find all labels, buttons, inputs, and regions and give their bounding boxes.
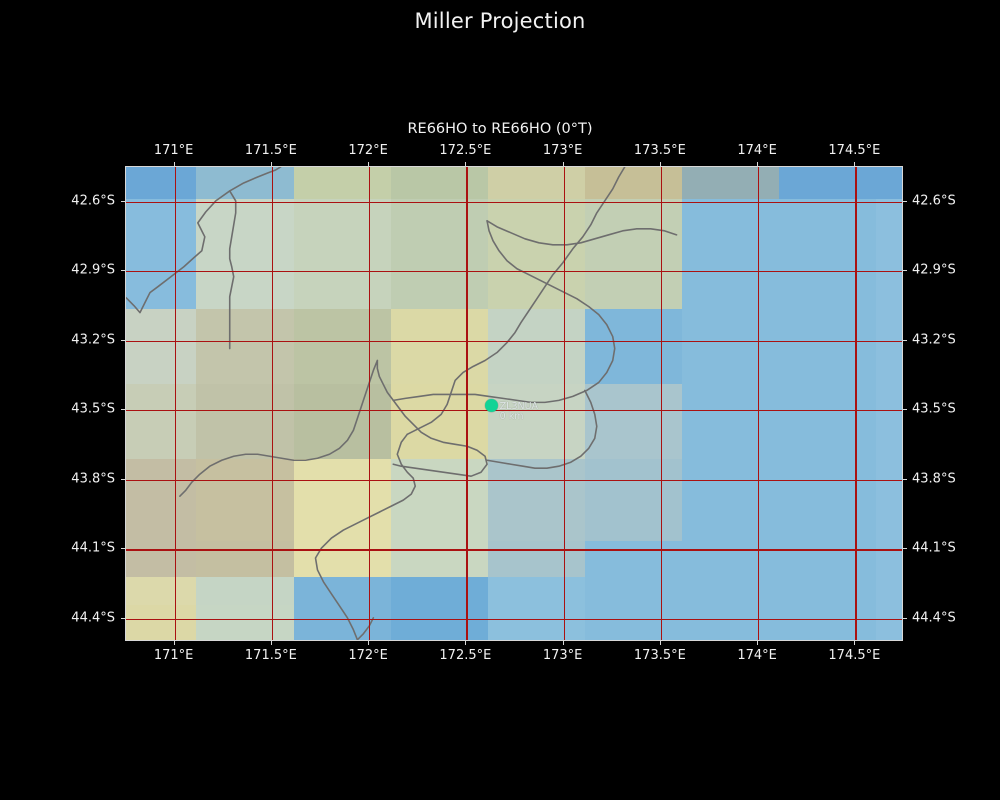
figure-subtitle: RE66HO to RE66HO (0°T)	[0, 121, 1000, 137]
x-tick-top: 172°E	[348, 143, 388, 158]
y-tick-left: 43.2°S	[0, 332, 115, 347]
x-tick-top: 174.5°E	[828, 143, 880, 158]
y-tick-right: 43.5°S	[912, 402, 956, 417]
axis-tick-mark	[903, 201, 907, 202]
coastline-path	[180, 360, 377, 496]
axis-tick-mark	[757, 641, 758, 645]
x-tick-bottom: 174.5°E	[828, 648, 880, 663]
axis-tick-mark	[271, 641, 272, 645]
map-plot-area[interactable]: ZL3NUA 0 km	[125, 166, 903, 641]
y-tick-right: 44.4°S	[912, 610, 956, 625]
graticule-parallel	[126, 341, 902, 342]
axis-tick-mark	[903, 548, 907, 549]
y-tick-right: 43.8°S	[912, 471, 956, 486]
y-tick-right: 44.1°S	[912, 541, 956, 556]
axis-tick-mark	[174, 641, 175, 645]
axis-tick-mark	[903, 270, 907, 271]
graticule-meridian	[661, 167, 662, 640]
graticule-parallel	[126, 549, 902, 550]
graticule-parallel	[126, 271, 902, 272]
axis-tick-mark	[271, 162, 272, 166]
axis-tick-mark	[121, 340, 125, 341]
axis-tick-mark	[121, 618, 125, 619]
graticule-meridian	[855, 167, 856, 640]
y-tick-right: 43.2°S	[912, 332, 956, 347]
y-tick-left: 43.8°S	[0, 471, 115, 486]
graticule-meridian	[466, 167, 467, 640]
y-tick-left: 42.9°S	[0, 263, 115, 278]
x-tick-top: 172.5°E	[439, 143, 491, 158]
axis-tick-mark	[368, 162, 369, 166]
graticule-parallel	[126, 202, 902, 203]
graticule-parallel	[126, 619, 902, 620]
graticule-meridian	[758, 167, 759, 640]
axis-tick-mark	[903, 618, 907, 619]
x-tick-bottom: 173°E	[543, 648, 583, 663]
axis-tick-mark	[854, 641, 855, 645]
x-tick-top: 174°E	[737, 143, 777, 158]
graticule-meridian	[175, 167, 176, 640]
y-tick-right: 42.6°S	[912, 193, 956, 208]
coastline-path	[377, 360, 487, 476]
graticule-meridian	[564, 167, 565, 640]
x-tick-bottom: 172°E	[348, 648, 388, 663]
figure-canvas: Miller Projection RE66HO to RE66HO (0°T)…	[0, 0, 1000, 800]
y-tick-left: 42.6°S	[0, 193, 115, 208]
axis-tick-mark	[465, 162, 466, 166]
axis-tick-mark	[903, 479, 907, 480]
axis-tick-mark	[903, 340, 907, 341]
coastline-path	[357, 618, 373, 640]
axis-tick-mark	[121, 548, 125, 549]
axis-tick-mark	[660, 162, 661, 166]
x-tick-bottom: 171°E	[154, 648, 194, 663]
graticule-parallel	[126, 480, 902, 481]
coastline-path	[126, 167, 281, 313]
station-marker-label: ZL3NUA 0 km	[500, 402, 538, 423]
y-tick-left: 44.1°S	[0, 541, 115, 556]
x-tick-bottom: 173.5°E	[634, 648, 686, 663]
figure-title: Miller Projection	[0, 9, 1000, 33]
coastline-path	[316, 434, 416, 639]
x-tick-top: 173.5°E	[634, 143, 686, 158]
axis-tick-mark	[174, 162, 175, 166]
x-tick-top: 171.5°E	[245, 143, 297, 158]
axis-tick-mark	[854, 162, 855, 166]
x-tick-top: 173°E	[543, 143, 583, 158]
x-tick-top: 171°E	[154, 143, 194, 158]
x-tick-bottom: 172.5°E	[439, 648, 491, 663]
graticule-meridian	[369, 167, 370, 640]
axis-tick-mark	[121, 201, 125, 202]
y-tick-left: 44.4°S	[0, 610, 115, 625]
axis-tick-mark	[121, 409, 125, 410]
x-tick-bottom: 174°E	[737, 648, 777, 663]
coastline-path	[230, 191, 236, 349]
axis-tick-mark	[903, 409, 907, 410]
y-tick-right: 42.9°S	[912, 263, 956, 278]
axis-tick-mark	[563, 162, 564, 166]
axis-tick-mark	[368, 641, 369, 645]
axis-tick-mark	[121, 479, 125, 480]
station-distance: 0 km	[500, 412, 538, 423]
axis-tick-mark	[121, 270, 125, 271]
coastline-path	[487, 221, 677, 245]
x-tick-bottom: 171.5°E	[245, 648, 297, 663]
axis-tick-mark	[660, 641, 661, 645]
y-tick-left: 43.5°S	[0, 402, 115, 417]
coastline-path	[393, 221, 614, 403]
axis-tick-mark	[563, 641, 564, 645]
axis-tick-mark	[465, 641, 466, 645]
axis-tick-mark	[757, 162, 758, 166]
graticule-meridian	[272, 167, 273, 640]
